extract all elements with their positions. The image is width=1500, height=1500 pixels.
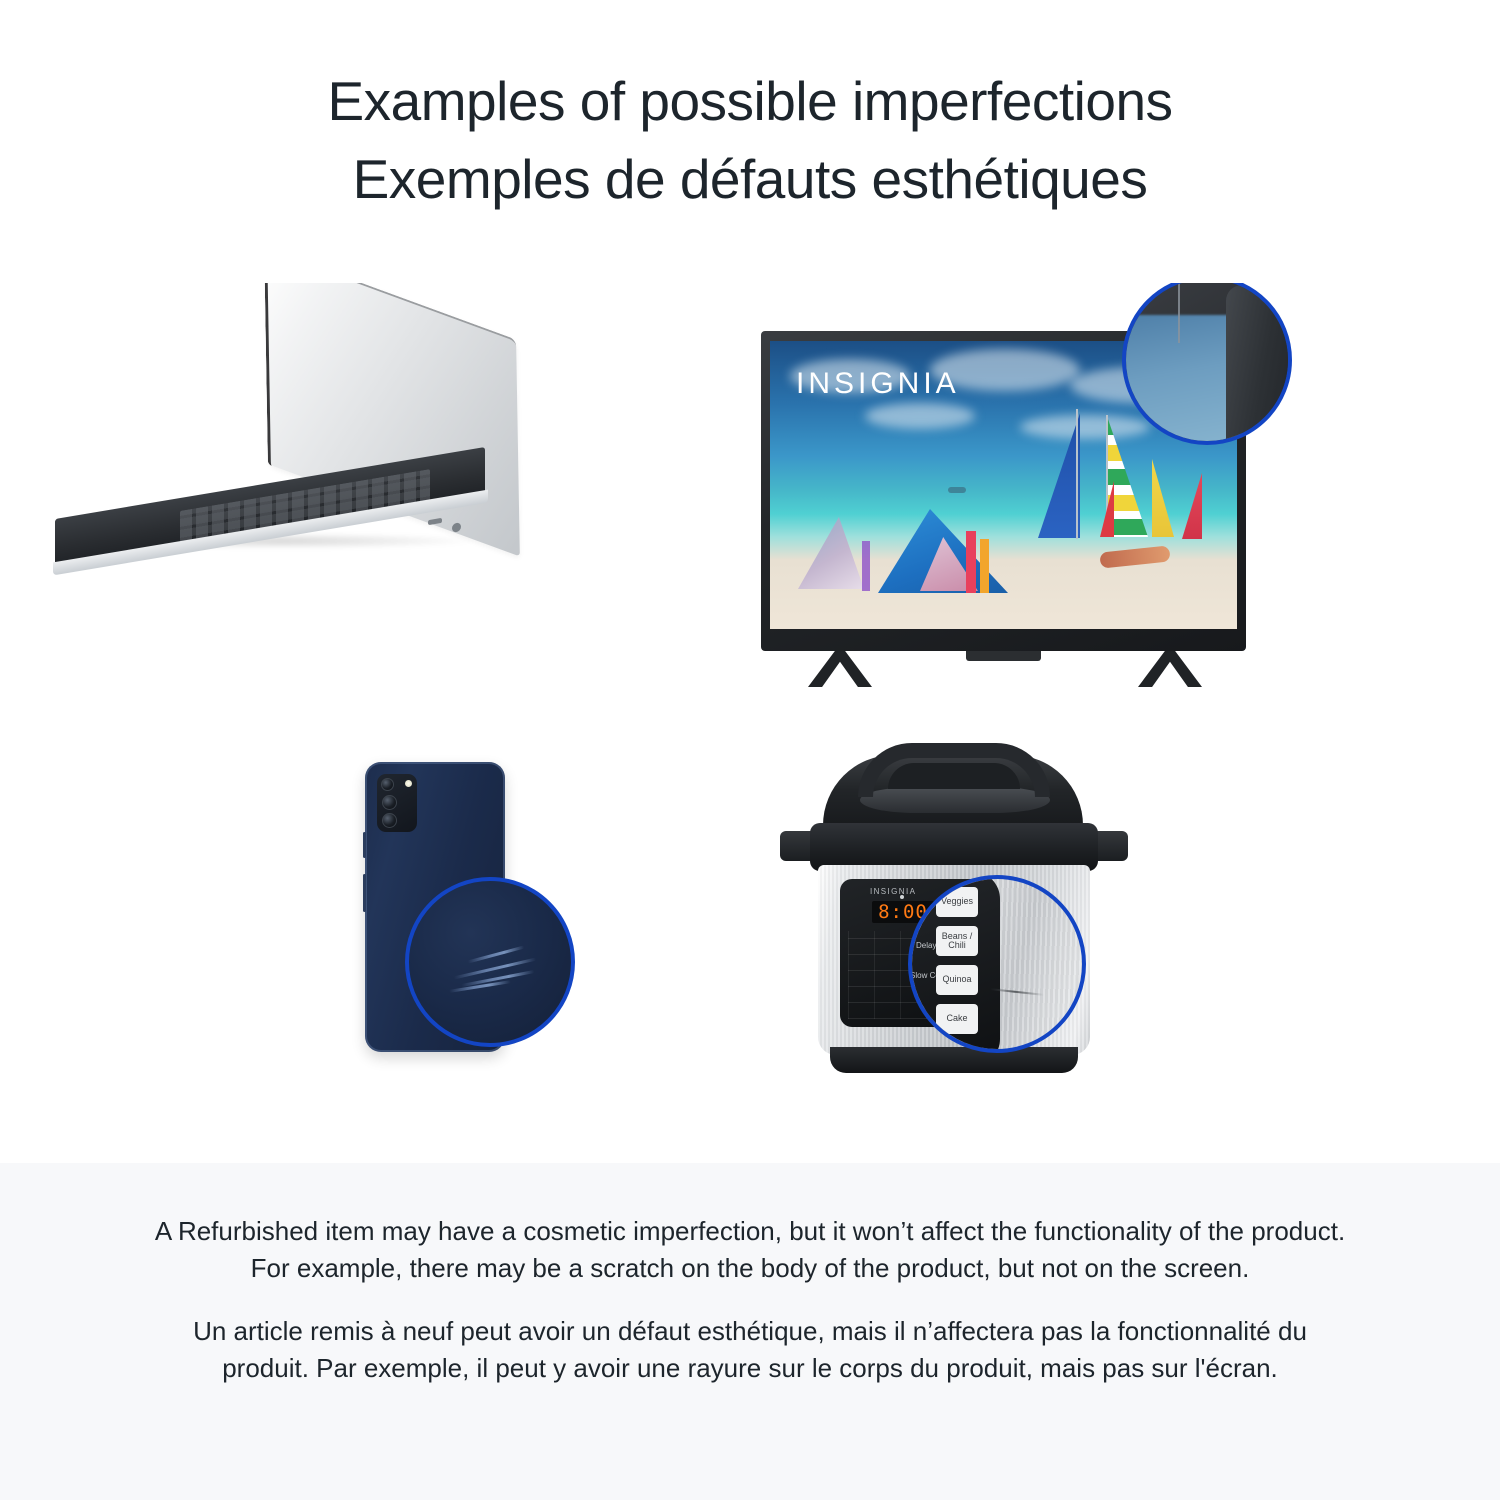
magnified-label-delay: Delay	[916, 941, 936, 950]
panel-smartphone	[0, 727, 748, 1163]
laptop-illustration	[0, 283, 748, 727]
magnified-bezel-corner	[1226, 285, 1292, 445]
refurbished-imperfections-infographic: Examples of possible imperfections Exemp…	[0, 0, 1500, 1500]
phone-volume-button	[363, 832, 366, 858]
television-illustration: INSIGNIA	[748, 283, 1500, 727]
cooker-handle-inner	[888, 763, 1020, 789]
scratch-mark	[454, 958, 537, 980]
beach-pole	[862, 541, 870, 591]
beach-tent	[798, 517, 864, 589]
footer-description: A Refurbished item may have a cosmetic i…	[0, 1163, 1500, 1500]
camera-flash-icon	[405, 780, 412, 787]
tv-logo-bar	[966, 651, 1041, 661]
page-title-english: Examples of possible imperfections	[0, 62, 1500, 140]
panel-laptop	[0, 283, 748, 727]
phone-power-button	[363, 874, 366, 912]
magnifier-cooker-scratch: Delay Slow Cook Veggies Beans / Chili Qu…	[908, 875, 1086, 1053]
phone-camera-module	[377, 774, 417, 832]
footer-paragraph-french: Un article remis à neuf peut avoir un dé…	[150, 1313, 1350, 1387]
magnified-button-quinoa: Quinoa	[936, 965, 978, 995]
camera-lens-icon	[382, 813, 397, 828]
beach-pole	[980, 539, 989, 593]
distant-boat	[948, 487, 966, 493]
tv-brand-logo: INSIGNIA	[796, 367, 960, 401]
sailboat-mast	[1076, 409, 1078, 539]
page-header: Examples of possible imperfections Exemp…	[0, 0, 1500, 283]
cloud-shape	[865, 403, 975, 429]
panel-pressure-cooker: INSIGNIA 8:00 Start Fish Steam Veggies B…	[748, 727, 1500, 1163]
tv-leg-left	[808, 651, 872, 687]
footer-paragraph-english: A Refurbished item may have a cosmetic i…	[150, 1213, 1350, 1287]
page-title-french: Exemples de défauts esthétiques	[0, 140, 1500, 218]
bezel-crack-mark	[1178, 283, 1180, 343]
beach-pole	[966, 531, 976, 593]
magnified-button-column: Veggies Beans / Chili Quinoa Cake	[936, 887, 978, 1034]
camera-lens-icon	[381, 778, 394, 791]
tv-leg-right	[1138, 651, 1202, 687]
smartphone-illustration	[0, 727, 748, 1163]
sailboat-sail	[1152, 459, 1174, 537]
scratch-mark	[468, 946, 525, 964]
magnifier-phone-scratches	[405, 877, 575, 1047]
magnified-screen-area	[1122, 315, 1240, 445]
magnified-button-beans-chili: Beans / Chili	[936, 926, 978, 956]
cooker-brand-logo: INSIGNIA	[870, 887, 916, 896]
product-example-grid: INSIGNIA	[0, 283, 1500, 1163]
beach-canoe	[1099, 545, 1170, 568]
sailboat-sail	[1182, 473, 1202, 539]
cooker-collar	[810, 823, 1098, 871]
magnified-button-cake: Cake	[936, 1004, 978, 1034]
pressure-cooker-illustration: INSIGNIA 8:00 Start Fish Steam Veggies B…	[748, 727, 1500, 1163]
status-indicator-dot	[900, 895, 904, 899]
magnified-button-veggies: Veggies	[936, 887, 978, 917]
panel-television: INSIGNIA	[748, 283, 1500, 727]
magnifier-tv-bezel	[1122, 283, 1292, 445]
cooker-base	[830, 1047, 1078, 1073]
camera-lens-icon	[382, 795, 397, 810]
